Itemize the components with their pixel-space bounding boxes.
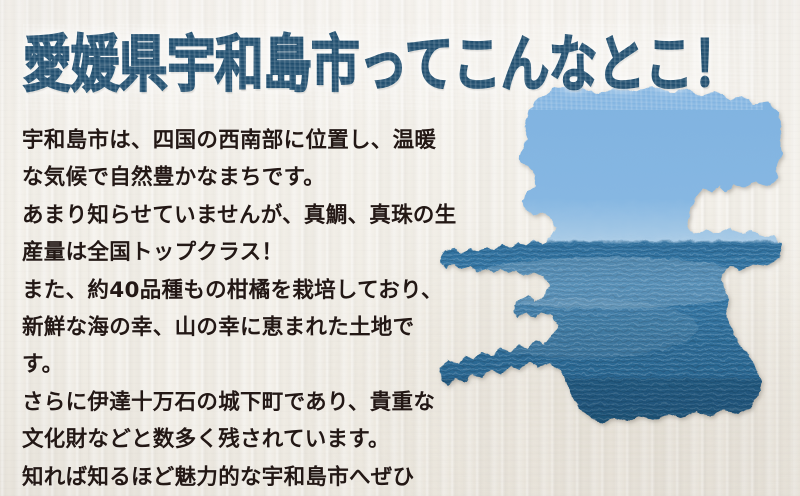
description-line: また、約40品種もの柑橘を栽培しており、 — [22, 272, 477, 309]
description-line: 宇和島市は、四国の西南部に位置し、温暖 — [22, 122, 477, 159]
description-line: 文化財などと数多く残されています。 — [22, 421, 477, 458]
description-line: あまり知らせていませんが、真鯛、真珠の生 — [22, 197, 477, 234]
description-line: 新鮮な海の幸、山の幸に恵まれた土地で — [22, 309, 477, 346]
description-block: 宇和島市は、四国の西南部に位置し、温暖 な気候で自然豊かなまちです。 あまり知ら… — [22, 122, 477, 496]
description-line: す。 — [22, 346, 477, 383]
page-title: 愛媛県宇和島市ってこんなとこ！ — [23, 24, 741, 109]
description-line: 産量は全国トップクラス！ — [22, 234, 477, 271]
uwajima-map-svg — [438, 78, 788, 494]
description-line: 知れば知るほど魅力的な宇和島市へぜひ — [22, 459, 477, 496]
uwajima-map-graphic — [438, 78, 788, 494]
description-line: な気候で自然豊かなまちです。 — [22, 159, 477, 196]
description-line: さらに伊達十万石の城下町であり、貴重な — [22, 384, 477, 421]
poster-root: 愛媛県宇和島市ってこんなとこ！ 宇和島市は、四国の西南部に位置し、温暖 な気候で… — [0, 0, 800, 496]
map-shadow-layer — [428, 68, 798, 496]
